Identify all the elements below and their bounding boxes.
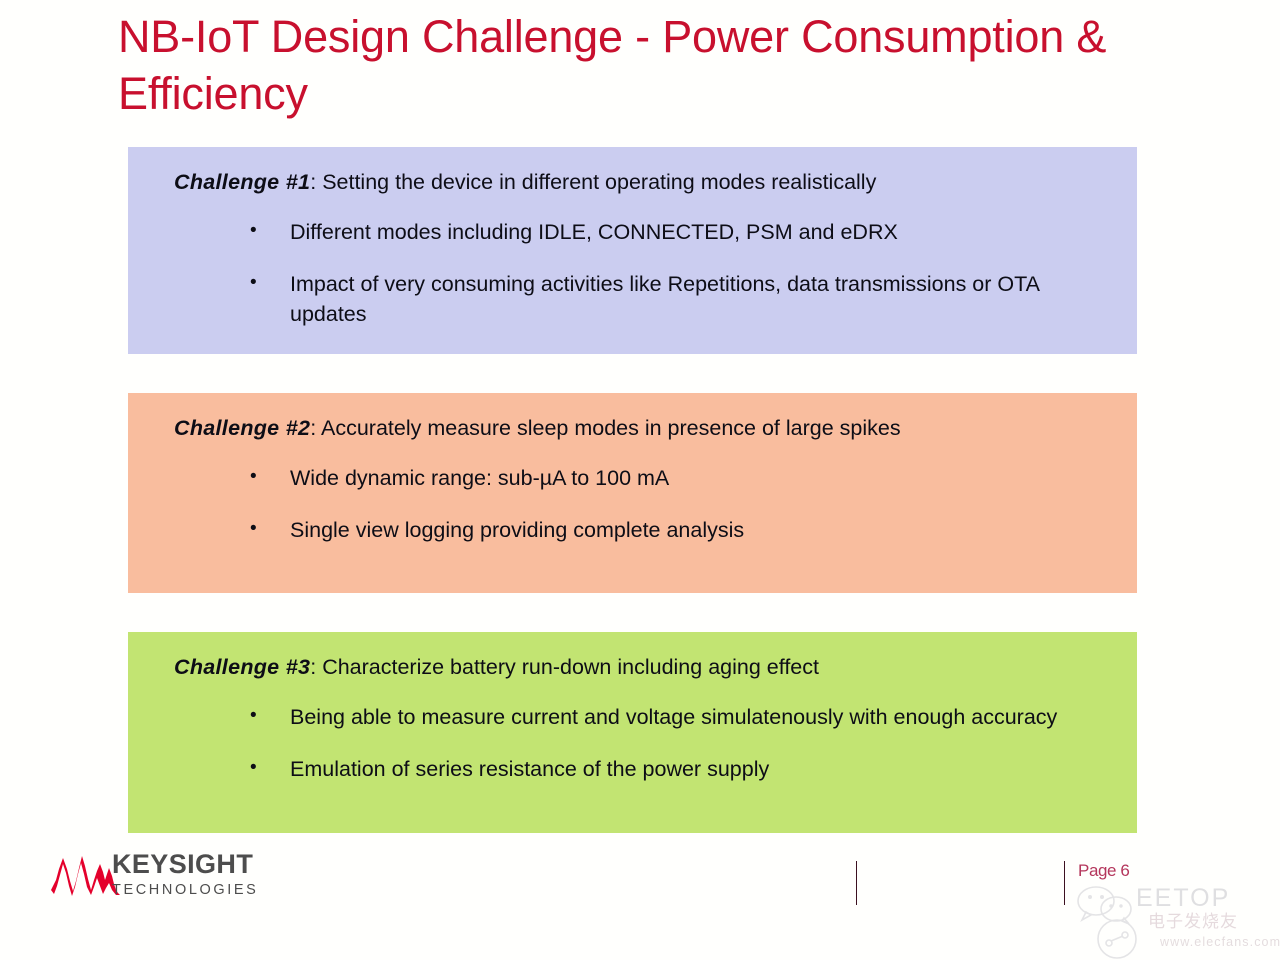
challenge-1-heading-text: Setting the device in different operatin…: [316, 170, 876, 194]
challenge-2-label: Challenge #2: [174, 416, 310, 440]
bullet-dot-icon: •: [250, 463, 257, 490]
watermark: EETOP 电子发烧友 www.elecfans.com: [1074, 884, 1280, 960]
challenge-3-heading: Challenge #3: Characterize battery run-d…: [174, 654, 1111, 681]
list-item: • Different modes including IDLE, CONNEC…: [174, 217, 1111, 248]
page-title: NB-IoT Design Challenge - Power Consumpt…: [118, 8, 1188, 122]
challenge-1-heading: Challenge #1: Setting the device in diff…: [174, 169, 1111, 196]
bullet-dot-icon: •: [250, 515, 257, 542]
challenge-2-heading-text: Accurately measure sleep modes in presen…: [316, 416, 900, 440]
challenge-2-bullet-list: • Wide dynamic range: sub-µA to 100 mA •…: [174, 463, 1111, 545]
page-number: Page 6: [1078, 861, 1129, 881]
keysight-wordmark: KEYSIGHT TECHNOLOGIES: [112, 850, 258, 901]
challenge-box-1: Challenge #1: Setting the device in diff…: [128, 147, 1137, 354]
watermark-chinese: 电子发烧友: [1148, 913, 1238, 930]
challenge-1-bullet-list: • Different modes including IDLE, CONNEC…: [174, 217, 1111, 330]
footer-divider-left: [856, 861, 857, 905]
chip-circle-icon: [1096, 918, 1138, 960]
list-item: • Being able to measure current and volt…: [174, 702, 1111, 733]
bullet-dot-icon: •: [250, 217, 257, 244]
challenge-box-3: Challenge #3: Characterize battery run-d…: [128, 632, 1137, 833]
footer-divider-right: [1064, 861, 1065, 905]
list-item: • Single view logging providing complete…: [174, 515, 1111, 546]
logo-subtitle: TECHNOLOGIES: [112, 880, 258, 900]
challenge-box-2: Challenge #2: Accurately measure sleep m…: [128, 393, 1137, 593]
watermark-brand: EETOP: [1136, 886, 1230, 911]
slide: NB-IoT Design Challenge - Power Consumpt…: [0, 0, 1280, 960]
challenge-1-label: Challenge #1: [174, 170, 310, 194]
keysight-logo: KEYSIGHT TECHNOLOGIES: [50, 848, 300, 908]
list-item: • Impact of very consuming activities li…: [174, 269, 1111, 330]
bullet-dot-icon: •: [250, 754, 257, 781]
bullet-dot-icon: •: [250, 269, 257, 296]
bullet-dot-icon: •: [250, 702, 257, 729]
list-item-text: Being able to measure current and voltag…: [290, 705, 1057, 729]
challenge-2-heading: Challenge #2: Accurately measure sleep m…: [174, 415, 1111, 442]
list-item-text: Single view logging providing complete a…: [290, 518, 744, 542]
list-item-text: Wide dynamic range: sub-µA to 100 mA: [290, 466, 669, 490]
list-item: • Emulation of series resistance of the …: [174, 754, 1111, 785]
challenge-3-heading-text: Characterize battery run-down including …: [316, 655, 819, 679]
logo-name: KEYSIGHT: [112, 850, 258, 878]
watermark-url: www.elecfans.com: [1160, 936, 1280, 949]
list-item-text: Different modes including IDLE, CONNECTE…: [290, 220, 898, 244]
list-item: • Wide dynamic range: sub-µA to 100 mA: [174, 463, 1111, 494]
list-item-text: Emulation of series resistance of the po…: [290, 757, 769, 781]
challenge-3-bullet-list: • Being able to measure current and volt…: [174, 702, 1111, 784]
challenge-3-label: Challenge #3: [174, 655, 310, 679]
list-item-text: Impact of very consuming activities like…: [290, 272, 1039, 327]
